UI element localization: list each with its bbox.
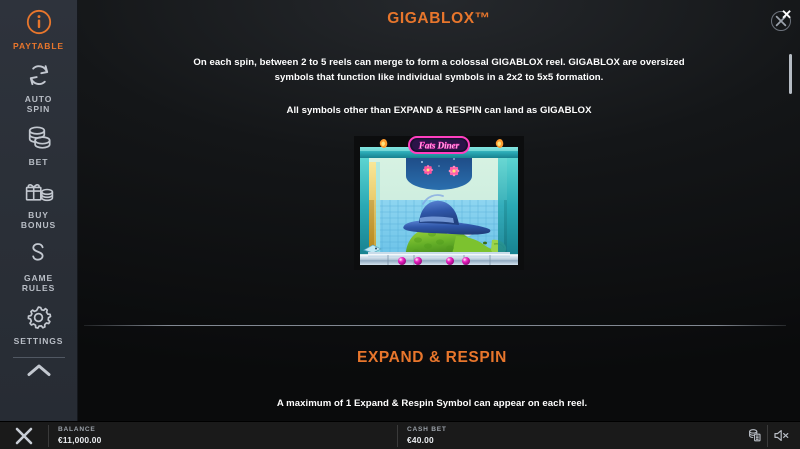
sidebar: PAYTABLE AUTOSPIN: [0, 0, 78, 421]
gigablox-note: All symbols other than EXPAND & RESPIN c…: [159, 103, 719, 118]
sidebar-item-bet[interactable]: BET: [0, 123, 78, 167]
diner-sign: Fats Diner: [409, 137, 469, 153]
balance-field: BALANCE €11,000.00: [49, 422, 397, 449]
coins-icon: [24, 123, 54, 153]
scrollbar-thumb[interactable]: [789, 54, 792, 94]
section-sign-icon: [28, 239, 50, 269]
sidebar-divider: [13, 357, 65, 358]
stacked-coins-icon[interactable]: [741, 422, 767, 449]
sidebar-item-buy-bonus[interactable]: BUYBONUS: [0, 176, 78, 230]
cash-bet-label: CASH BET: [407, 426, 741, 434]
sidebar-item-settings[interactable]: SETTINGS: [0, 302, 78, 346]
close-icon[interactable]: ✕: [781, 8, 792, 21]
expand-respin-description: A maximum of 1 Expand & Respin Symbol ca…: [78, 396, 786, 411]
refresh-icon: [25, 60, 53, 90]
sidebar-item-label: SETTINGS: [14, 336, 64, 346]
sidebar-item-label: PAYTABLE: [13, 41, 64, 51]
section-title-expand-respin: EXPAND & RESPIN: [78, 349, 786, 367]
info-circle-icon: [26, 7, 52, 37]
gift-coins-icon: [23, 176, 55, 206]
cash-bet-field: CASH BET €40.00: [398, 422, 741, 449]
sidebar-item-game-rules[interactable]: GAMERULES: [0, 239, 78, 293]
section-divider: [84, 325, 786, 326]
balance-value: €11,000.00: [58, 435, 397, 445]
sidebar-item-label: AUTOSPIN: [25, 94, 53, 114]
scrollbar-track[interactable]: [793, 8, 796, 413]
paytable-content: GIGABLOX™ On each spin, between 2 to 5 r…: [78, 0, 800, 421]
paytable-overlay: PAYTABLE AUTOSPIN: [0, 0, 800, 449]
gigablox-description: On each spin, between 2 to 5 reels can m…: [189, 55, 689, 85]
gigablox-crocodile-symbol: Fats Diner: [344, 128, 534, 278]
symbol-artwork: Fats Diner: [344, 128, 534, 278]
gem-bar: [360, 252, 518, 265]
page-title: GIGABLOX™: [78, 10, 800, 28]
cash-bet-value: €40.00: [407, 435, 741, 445]
gear-icon: [25, 302, 52, 332]
close-x-icon[interactable]: [0, 422, 48, 449]
sidebar-item-label: BET: [29, 157, 49, 167]
chevron-up-icon[interactable]: [24, 362, 54, 383]
diner-sign-text: Fats Diner: [418, 140, 460, 150]
sidebar-item-label: GAMERULES: [22, 273, 55, 293]
sidebar-item-auto-spin[interactable]: AUTOSPIN: [0, 60, 78, 114]
balance-label: BALANCE: [58, 426, 397, 434]
sidebar-item-paytable[interactable]: PAYTABLE: [0, 7, 78, 51]
bottom-bar-icons: [741, 422, 800, 449]
sidebar-item-label: BUYBONUS: [21, 210, 56, 230]
bottom-status-bar: BALANCE €11,000.00 CASH BET €40.00: [0, 421, 800, 449]
speaker-muted-icon[interactable]: [768, 422, 794, 449]
